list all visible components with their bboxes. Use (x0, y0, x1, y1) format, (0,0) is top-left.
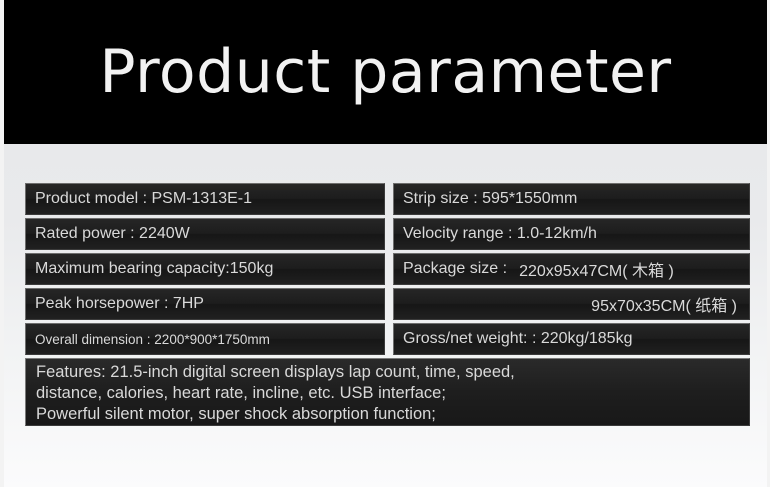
features-line-2: distance, calories, heart rate, incline,… (36, 383, 739, 404)
spec-cell-overall-dimension: Overall dimension : 2200*900*1750mm (25, 323, 385, 355)
package-size-label: Package size : (403, 260, 507, 278)
table-row: Product model : PSM-1313E-1 Strip size :… (25, 183, 750, 215)
spec-cell-rated-power: Rated power : 2240W (25, 218, 385, 250)
product-parameter-page: Product parameter Product model : PSM-13… (0, 0, 770, 487)
features-line-1: Features: 21.5-inch digital screen displ… (36, 362, 739, 383)
package-size-value: 220x95x47CM( 木箱 ) (519, 257, 674, 281)
spec-cell-product-model: Product model : PSM-1313E-1 (25, 183, 385, 215)
spec-cell-package-size-carton: 95x70x35CM( 纸箱 ) (393, 288, 750, 320)
spec-cell-gross-net-weight: Gross/net weight: : 220kg/185kg (393, 323, 750, 355)
features-block: Features: 21.5-inch digital screen displ… (25, 358, 750, 426)
spec-cell-max-bearing-capacity: Maximum bearing capacity:150kg (25, 253, 385, 285)
spec-cell-strip-size: Strip size : 595*1550mm (393, 183, 750, 215)
spec-cell-package-size: Package size : 220x95x47CM( 木箱 ) (393, 253, 750, 285)
page-title: Product parameter (99, 42, 671, 102)
spec-cell-velocity-range: Velocity range : 1.0-12km/h (393, 218, 750, 250)
table-row: Peak horsepower : 7HP 95x70x35CM( 纸箱 ) (25, 288, 750, 320)
spec-cell-peak-horsepower: Peak horsepower : 7HP (25, 288, 385, 320)
table-row: Maximum bearing capacity:150kg Package s… (25, 253, 750, 285)
features-line-3: Powerful silent motor, super shock absor… (36, 404, 739, 425)
table-row: Overall dimension : 2200*900*1750mm Gros… (25, 323, 750, 355)
title-banner: Product parameter (4, 0, 767, 144)
table-row: Rated power : 2240W Velocity range : 1.0… (25, 218, 750, 250)
spec-table: Product model : PSM-1313E-1 Strip size :… (25, 183, 750, 358)
